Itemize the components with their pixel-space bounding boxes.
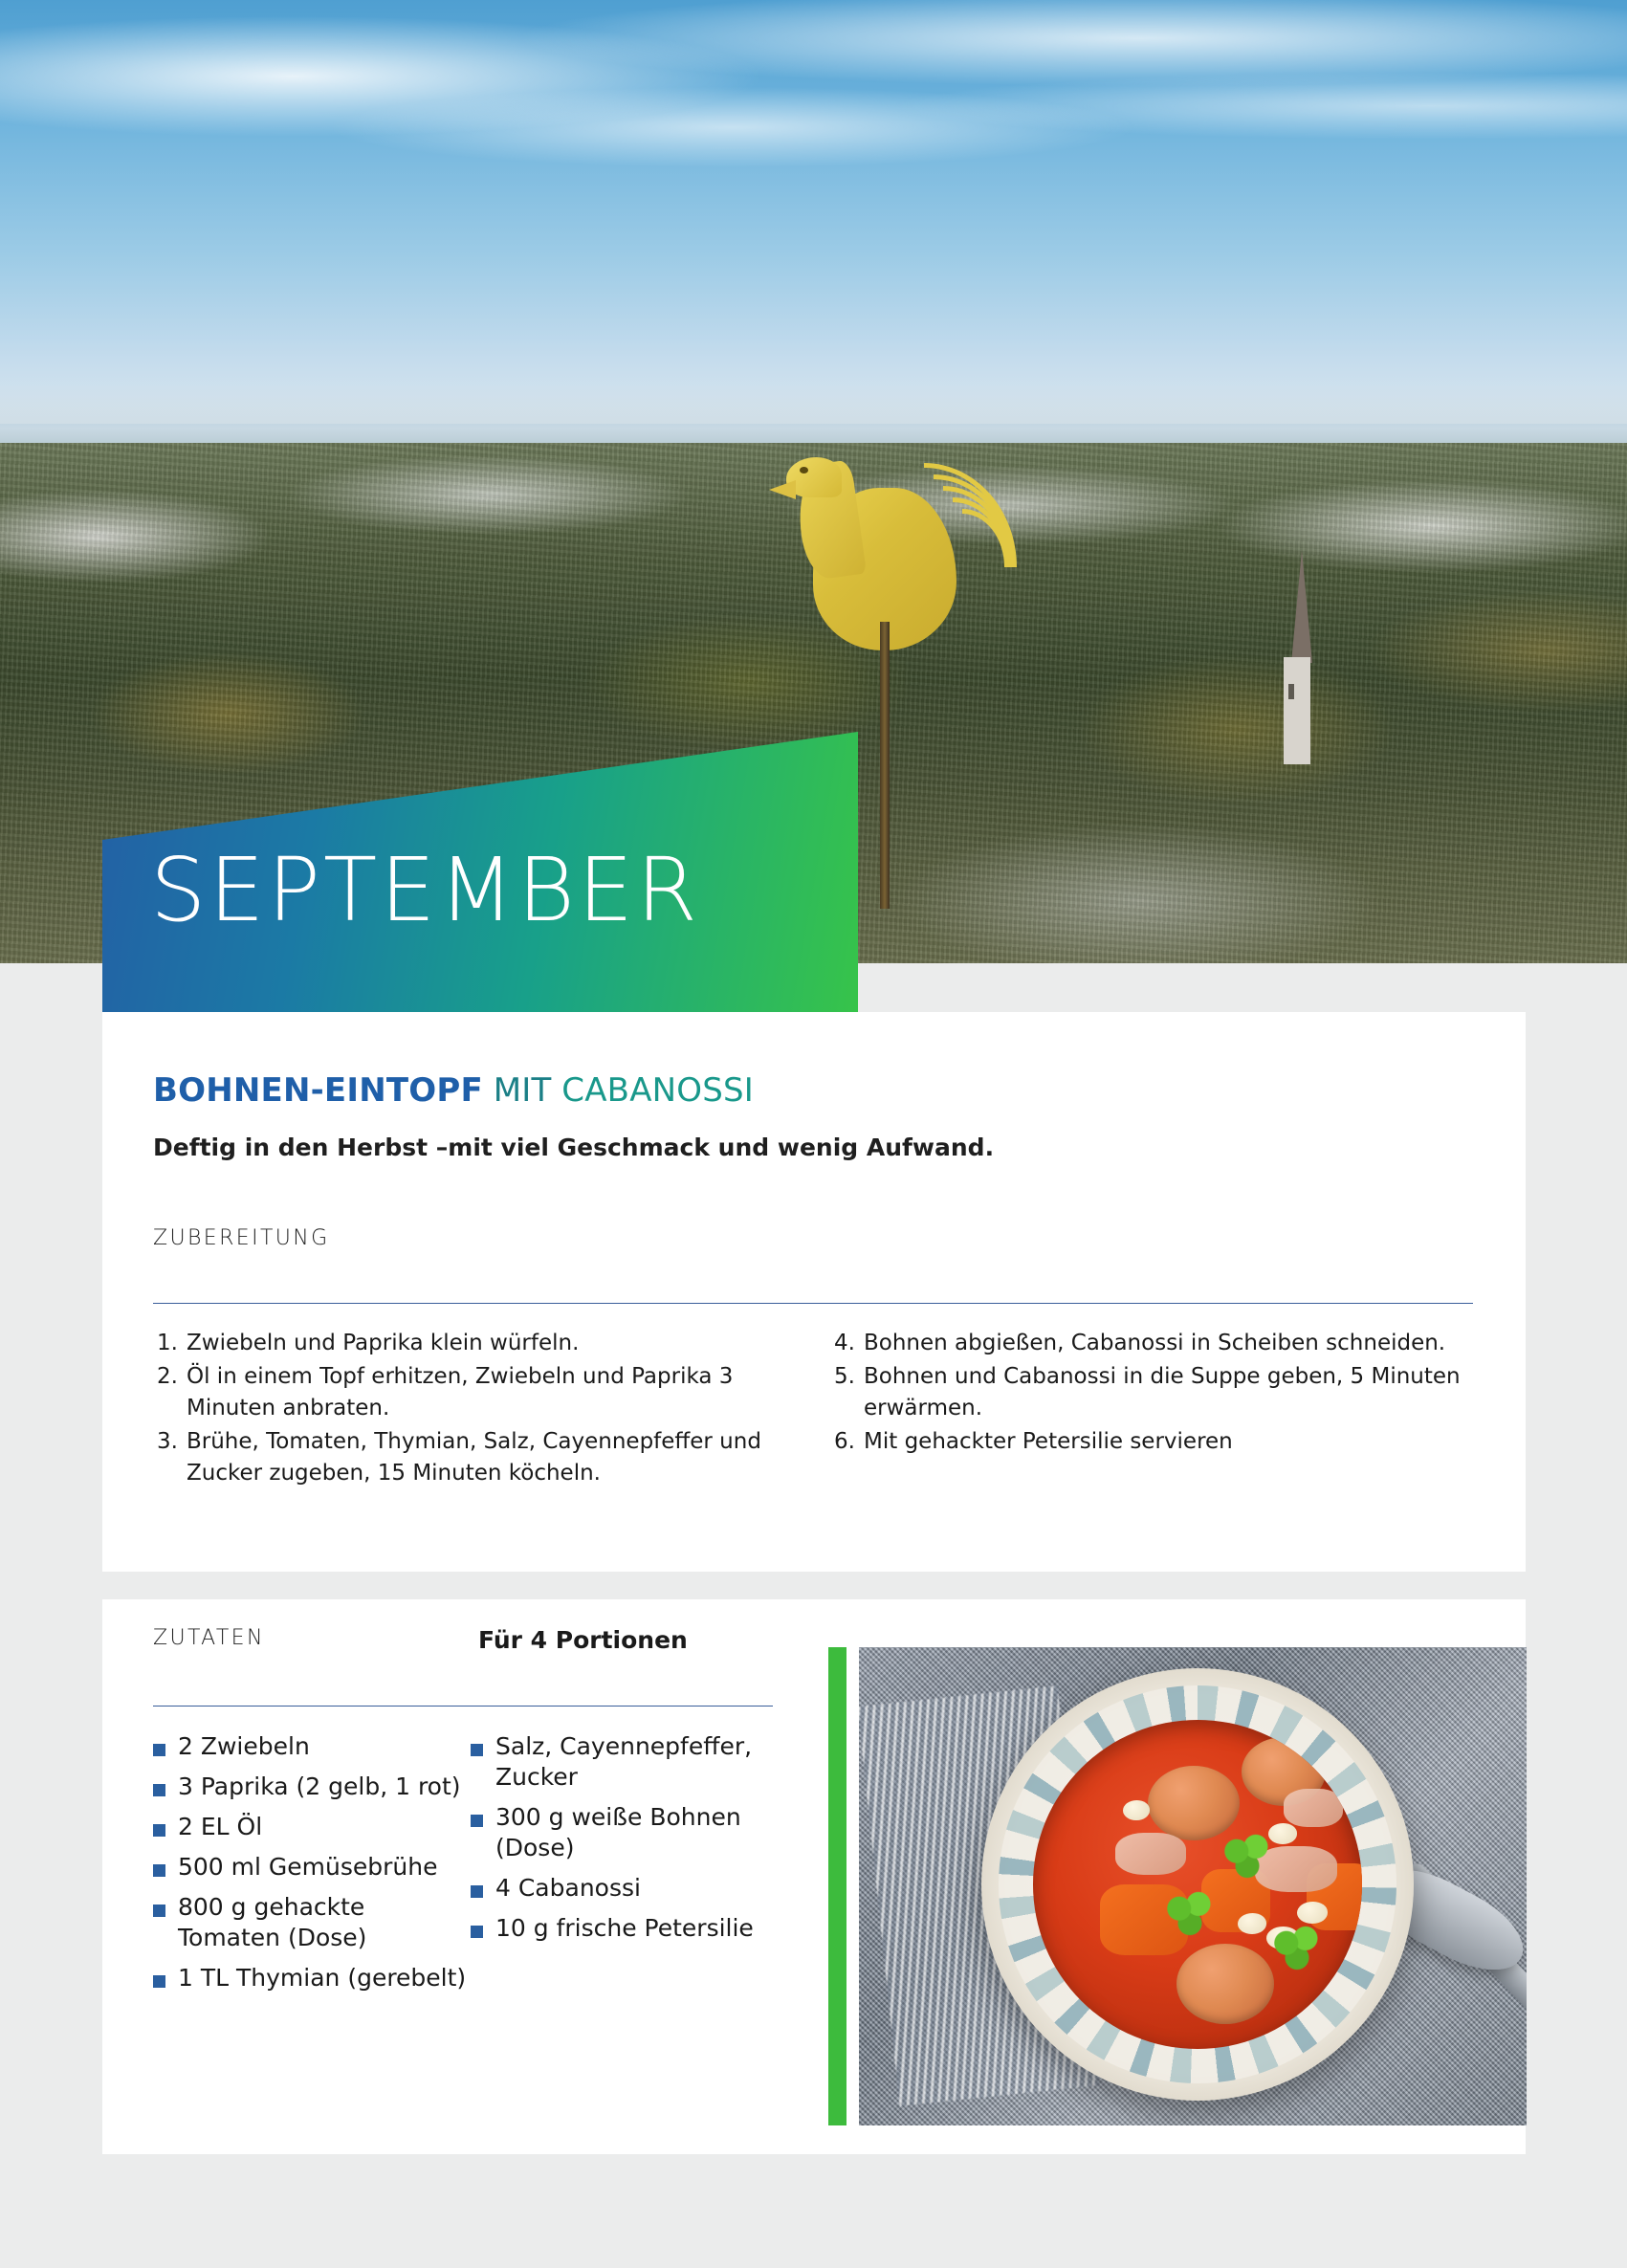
ingredient-text: 1 TL Thymian (gerebelt) bbox=[178, 1963, 469, 1993]
rooster-weathervane-icon bbox=[765, 450, 1033, 679]
ingredient-text: 2 EL Öl bbox=[178, 1812, 469, 1842]
step-number: 1. bbox=[145, 1328, 187, 1359]
onion-piece bbox=[1115, 1833, 1186, 1875]
list-item: 5. Bohnen und Cabanossi in die Suppe geb… bbox=[823, 1361, 1483, 1424]
parsley-garnish bbox=[1270, 1925, 1324, 1971]
square-bullet-icon bbox=[471, 1913, 495, 1944]
step-text: Mit gehackter Petersilie servieren bbox=[864, 1426, 1483, 1458]
white-bean bbox=[1123, 1800, 1150, 1820]
list-item: 2. Öl in einem Topf erhitzen, Zwiebeln u… bbox=[145, 1361, 815, 1424]
recipe-title: BOHNEN-EINTOPF MIT CABANOSSI bbox=[153, 1073, 754, 1109]
ingredient-text: 300 g weiße Bohnen (Dose) bbox=[495, 1802, 786, 1863]
recipe-title-connector: MIT bbox=[494, 1071, 552, 1110]
photo-accent-bar bbox=[828, 1647, 846, 2125]
list-item: 2 EL Öl bbox=[153, 1812, 469, 1842]
ingredients-divider bbox=[153, 1706, 773, 1707]
recipe-subtitle: Deftig in den Herbst –mit viel Geschmack… bbox=[153, 1134, 994, 1161]
ingredient-text: 10 g frische Petersilie bbox=[495, 1913, 786, 1944]
sky-layer bbox=[0, 0, 1627, 424]
step-number: 4. bbox=[823, 1328, 864, 1359]
step-text: Öl in einem Topf erhitzen, Zwiebeln und … bbox=[187, 1361, 815, 1424]
square-bullet-icon bbox=[471, 1802, 495, 1863]
preparation-steps-left: 1. Zwiebeln und Paprika klein würfeln. 2… bbox=[145, 1328, 815, 1492]
ingredient-text: Salz, Cayennepfeffer, Zucker bbox=[495, 1731, 786, 1793]
square-bullet-icon bbox=[471, 1873, 495, 1904]
ingredient-text: 2 Zwiebeln bbox=[178, 1731, 469, 1762]
list-item: 800 g gehackte Tomaten (Dose) bbox=[153, 1892, 469, 1953]
ingredients-heading: ZUTATEN bbox=[153, 1626, 265, 1650]
list-item: 10 g frische Petersilie bbox=[471, 1913, 786, 1944]
step-text: Bohnen und Cabanossi in die Suppe geben,… bbox=[864, 1361, 1483, 1424]
list-item: Salz, Cayennepfeffer, Zucker bbox=[471, 1731, 786, 1793]
white-bean bbox=[1238, 1913, 1266, 1934]
recipe-title-accent: CABANOSSI bbox=[561, 1071, 754, 1110]
onion-piece bbox=[1284, 1789, 1343, 1827]
month-label: SEPTEMBER bbox=[150, 847, 700, 935]
preparation-steps-right: 4. Bohnen abgießen, Cabanossi in Scheibe… bbox=[823, 1328, 1483, 1460]
soup-bowl bbox=[981, 1668, 1414, 2101]
step-number: 2. bbox=[145, 1361, 187, 1424]
list-item: 4 Cabanossi bbox=[471, 1873, 786, 1904]
ingredients-column-right: Salz, Cayennepfeffer, Zucker 300 g weiße… bbox=[471, 1731, 786, 1953]
list-item: 300 g weiße Bohnen (Dose) bbox=[471, 1802, 786, 1863]
church-spire-icon bbox=[1272, 550, 1331, 789]
ingredients-column-left: 2 Zwiebeln 3 Paprika (2 gelb, 1 rot) 2 E… bbox=[153, 1731, 469, 2003]
list-item: 1. Zwiebeln und Paprika klein würfeln. bbox=[145, 1328, 815, 1359]
preparation-heading: ZUBEREITUNG bbox=[153, 1226, 330, 1250]
step-text: Zwiebeln und Paprika klein würfeln. bbox=[187, 1328, 815, 1359]
list-item: 4. Bohnen abgießen, Cabanossi in Scheibe… bbox=[823, 1328, 1483, 1359]
portions-label: Für 4 Portionen bbox=[478, 1626, 688, 1654]
parsley-garnish bbox=[1163, 1890, 1217, 1936]
list-item: 1 TL Thymian (gerebelt) bbox=[153, 1963, 469, 1993]
ingredient-text: 500 ml Gemüsebrühe bbox=[178, 1852, 469, 1883]
square-bullet-icon bbox=[153, 1731, 178, 1762]
square-bullet-icon bbox=[153, 1852, 178, 1883]
sausage-slice bbox=[1148, 1766, 1240, 1840]
soup-surface bbox=[1033, 1720, 1362, 2049]
square-bullet-icon bbox=[153, 1772, 178, 1802]
list-item: 3. Brühe, Tomaten, Thymian, Salz, Cayenn… bbox=[145, 1426, 815, 1489]
square-bullet-icon bbox=[153, 1963, 178, 1993]
step-text: Brühe, Tomaten, Thymian, Salz, Cayennepf… bbox=[187, 1426, 815, 1489]
food-photo bbox=[859, 1647, 1527, 2125]
square-bullet-icon bbox=[153, 1892, 178, 1953]
list-item: 6. Mit gehackter Petersilie servieren bbox=[823, 1426, 1483, 1458]
parsley-garnish bbox=[1220, 1833, 1274, 1879]
ingredient-text: 3 Paprika (2 gelb, 1 rot) bbox=[178, 1772, 469, 1802]
step-number: 3. bbox=[145, 1426, 187, 1489]
sausage-slice bbox=[1176, 1944, 1274, 2024]
square-bullet-icon bbox=[471, 1731, 495, 1793]
white-bean bbox=[1297, 1902, 1328, 1924]
square-bullet-icon bbox=[153, 1812, 178, 1842]
ingredient-text: 800 g gehackte Tomaten (Dose) bbox=[178, 1892, 469, 1953]
list-item: 3 Paprika (2 gelb, 1 rot) bbox=[153, 1772, 469, 1802]
preparation-divider bbox=[153, 1303, 1473, 1304]
step-text: Bohnen abgießen, Cabanossi in Scheiben s… bbox=[864, 1328, 1483, 1359]
list-item: 500 ml Gemüsebrühe bbox=[153, 1852, 469, 1883]
list-item: 2 Zwiebeln bbox=[153, 1731, 469, 1762]
recipe-title-main: BOHNEN-EINTOPF bbox=[153, 1071, 483, 1110]
step-number: 5. bbox=[823, 1361, 864, 1424]
step-number: 6. bbox=[823, 1426, 864, 1458]
ingredient-text: 4 Cabanossi bbox=[495, 1873, 786, 1904]
